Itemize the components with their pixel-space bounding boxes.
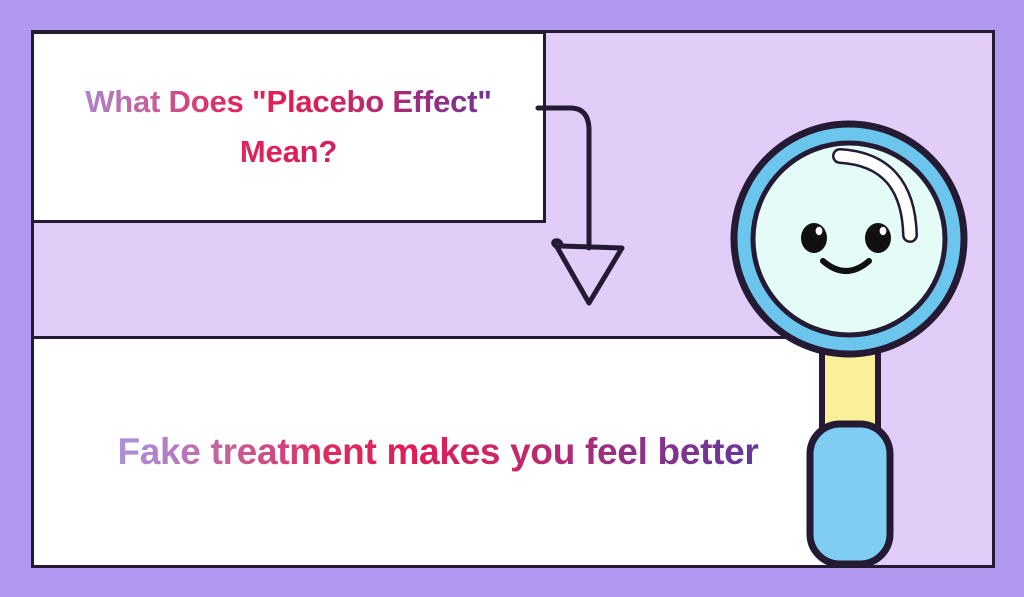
curved-arrow-icon (536, 100, 646, 305)
title-card: What Does "Placebo Effect" Mean? (31, 31, 546, 223)
title-text: What Does "Placebo Effect" Mean? (34, 77, 543, 177)
answer-text: Fake treatment makes you feel better (97, 423, 778, 480)
illustration-canvas: What Does "Placebo Effect" Mean? Fake tr… (0, 0, 1024, 597)
magnifying-glass-icon (718, 118, 980, 570)
